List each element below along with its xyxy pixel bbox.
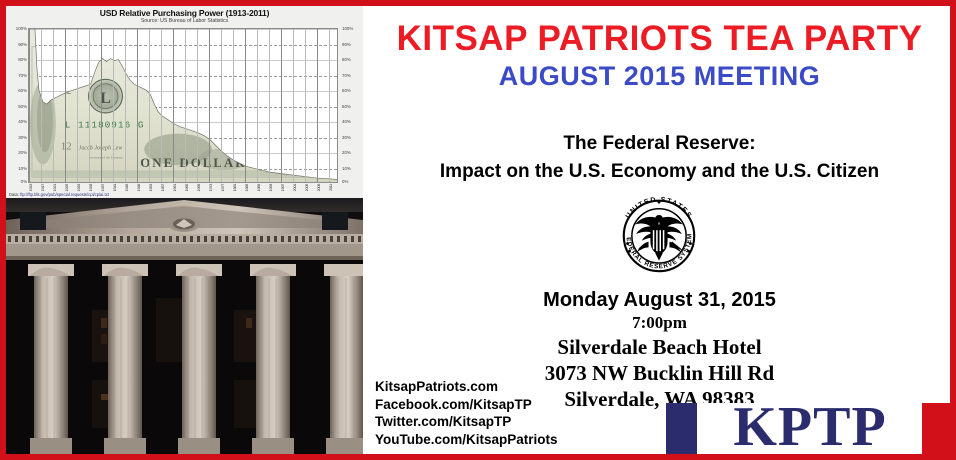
gridline-v (161, 29, 162, 182)
y-tick: 90% (18, 42, 27, 47)
x-tick: 1977 (221, 184, 225, 191)
topic-line-1: The Federal Reserve: (363, 133, 956, 155)
event-date: Monday August 31, 2015 (363, 289, 956, 312)
gridline-v (317, 29, 318, 182)
federal-reserve-seal-icon: UNITED STATES FEDERAL RESERVE SYSTEM (610, 194, 708, 274)
gridline-v (149, 29, 150, 182)
y-tick: 40% (342, 119, 351, 124)
chart-plot-wrapper: 12 12 L L 11180916 G Jacob Joseph Lew Se (28, 28, 338, 183)
chart-source-footnote: Data: ftp://ftp.bls.gov/pub/special.requ… (9, 192, 109, 197)
y-tick: 30% (342, 135, 351, 140)
gridline-v (89, 29, 90, 182)
left-column: USD Relative Purchasing Power (1913-2011… (6, 6, 363, 454)
x-tick: 1953 (149, 184, 153, 191)
x-tick: 1989 (257, 184, 261, 191)
y-tick: 60% (342, 88, 351, 93)
chart-footnote-label: Data: (9, 192, 19, 197)
x-tick: 1985 (245, 184, 249, 191)
gridline-v (209, 29, 210, 182)
x-tick: 1949 (137, 184, 141, 191)
gridline-v (29, 29, 30, 182)
x-tick: 1997 (281, 184, 285, 191)
gridline-v (233, 29, 234, 182)
gridline-v (197, 29, 198, 182)
gridline-v (185, 29, 186, 182)
x-tick: 1957 (161, 184, 165, 191)
gridline-v (245, 29, 246, 182)
link-website[interactable]: KitsapPatriots.com (375, 378, 558, 396)
x-tick: 1941 (113, 184, 117, 191)
y-tick: 50% (342, 104, 351, 109)
chart-title: USD Relative Purchasing Power (1913-2011… (6, 8, 363, 18)
x-tick: 1965 (185, 184, 189, 191)
gridline-v (53, 29, 54, 182)
chart-y-axis-right: 100% 90% 80% 70% 60% 50% 40% 30% 20% 10%… (340, 28, 360, 183)
x-tick: 1917 (41, 184, 45, 191)
federal-reserve-building-photo (6, 198, 363, 454)
x-tick: 1981 (233, 184, 237, 191)
x-tick: 1961 (173, 184, 177, 191)
x-tick: 1973 (209, 184, 213, 191)
y-tick: 70% (18, 73, 27, 78)
right-column: KITSAP PATRIOTS TEA PARTY AUGUST 2015 ME… (363, 6, 956, 454)
chart-footnote-link: ftp://ftp.bls.gov/pub/special.requests/c… (20, 192, 109, 197)
gridline-v (221, 29, 222, 182)
gridline-v (257, 29, 258, 182)
gridline-v (113, 29, 114, 182)
x-tick: 1933 (89, 184, 93, 191)
logo-red-bar (922, 403, 950, 454)
gridline-v (293, 29, 294, 182)
x-tick: 1913 (29, 184, 33, 191)
kptp-logo: KPTP (666, 403, 950, 454)
purchasing-power-chart: USD Relative Purchasing Power (1913-2011… (6, 6, 363, 198)
event-venue: Silverdale Beach Hotel (363, 334, 956, 360)
link-twitter[interactable]: Twitter.com/KitsapTP (375, 413, 558, 431)
gridline-v (281, 29, 282, 182)
building-illustration (6, 198, 363, 454)
y-tick: 40% (18, 119, 27, 124)
x-tick: 1945 (125, 184, 129, 191)
svg-text:12: 12 (61, 140, 72, 152)
y-tick: 70% (342, 73, 351, 78)
y-tick: 10% (342, 166, 351, 171)
chart-area-series: 12 12 L L 11180916 G Jacob Joseph Lew Se (29, 29, 337, 182)
y-tick: 100% (342, 26, 353, 31)
y-tick: 90% (342, 42, 351, 47)
x-tick: 1921 (53, 184, 57, 191)
gridline-v (65, 29, 66, 182)
x-tick: 1929 (77, 184, 81, 191)
y-tick: 0% (21, 179, 27, 184)
gridline-v (41, 29, 42, 182)
logo-text: KPTP (702, 399, 918, 455)
x-tick: 1969 (197, 184, 201, 191)
y-tick: 80% (342, 57, 351, 62)
svg-text:Secretary of the Treasury: Secretary of the Treasury (89, 155, 123, 159)
y-tick: 50% (18, 104, 27, 109)
chart-plot-area: 12 12 L L 11180916 G Jacob Joseph Lew Se (28, 28, 338, 183)
link-facebook[interactable]: Facebook.com/KitsapTP (375, 396, 558, 414)
meeting-subtitle: AUGUST 2015 MEETING (363, 61, 956, 91)
y-tick: 0% (342, 179, 348, 184)
event-time: 7:00pm (363, 312, 956, 334)
x-tick: 2009 (317, 184, 321, 191)
gridline-v (329, 29, 330, 182)
seal-graphic: UNITED STATES FEDERAL RESERVE SYSTEM (610, 194, 708, 274)
x-tick: 1925 (65, 184, 69, 191)
y-tick: 80% (18, 57, 27, 62)
x-tick: 1937 (101, 184, 105, 191)
gridline-v (77, 29, 78, 182)
link-youtube[interactable]: YouTube.com/KitsapPatriots (375, 431, 558, 449)
gridline-v (173, 29, 174, 182)
social-links-list: KitsapPatriots.com Facebook.com/KitsapTP… (375, 378, 558, 448)
x-tick: 2005 (305, 184, 309, 191)
gridline-v (101, 29, 102, 182)
page-title: KITSAP PATRIOTS TEA PARTY (363, 20, 956, 58)
x-tick: 2001 (293, 184, 297, 191)
y-tick: 30% (18, 135, 27, 140)
y-tick: 20% (342, 150, 351, 155)
chart-y-axis-left: 100% 90% 80% 70% 60% 50% 40% 30% 20% 10%… (7, 28, 27, 183)
x-tick: 2011 (329, 184, 333, 191)
gridline-v (125, 29, 126, 182)
flyer-poster: USD Relative Purchasing Power (1913-2011… (0, 0, 956, 460)
chart-subtitle: Source: US Bureau of Labor Statistics (6, 18, 363, 25)
y-tick: 60% (18, 88, 27, 93)
y-tick: 10% (18, 166, 27, 171)
y-tick: 20% (18, 150, 27, 155)
x-tick: 1993 (269, 184, 273, 191)
y-tick: 100% (16, 26, 27, 31)
gridline-v (305, 29, 306, 182)
gridline-v (137, 29, 138, 182)
gridline-v (269, 29, 270, 182)
logo-navy-bar (666, 403, 697, 454)
topic-line-2: Impact on the U.S. Economy and the U.S. … (363, 161, 956, 183)
